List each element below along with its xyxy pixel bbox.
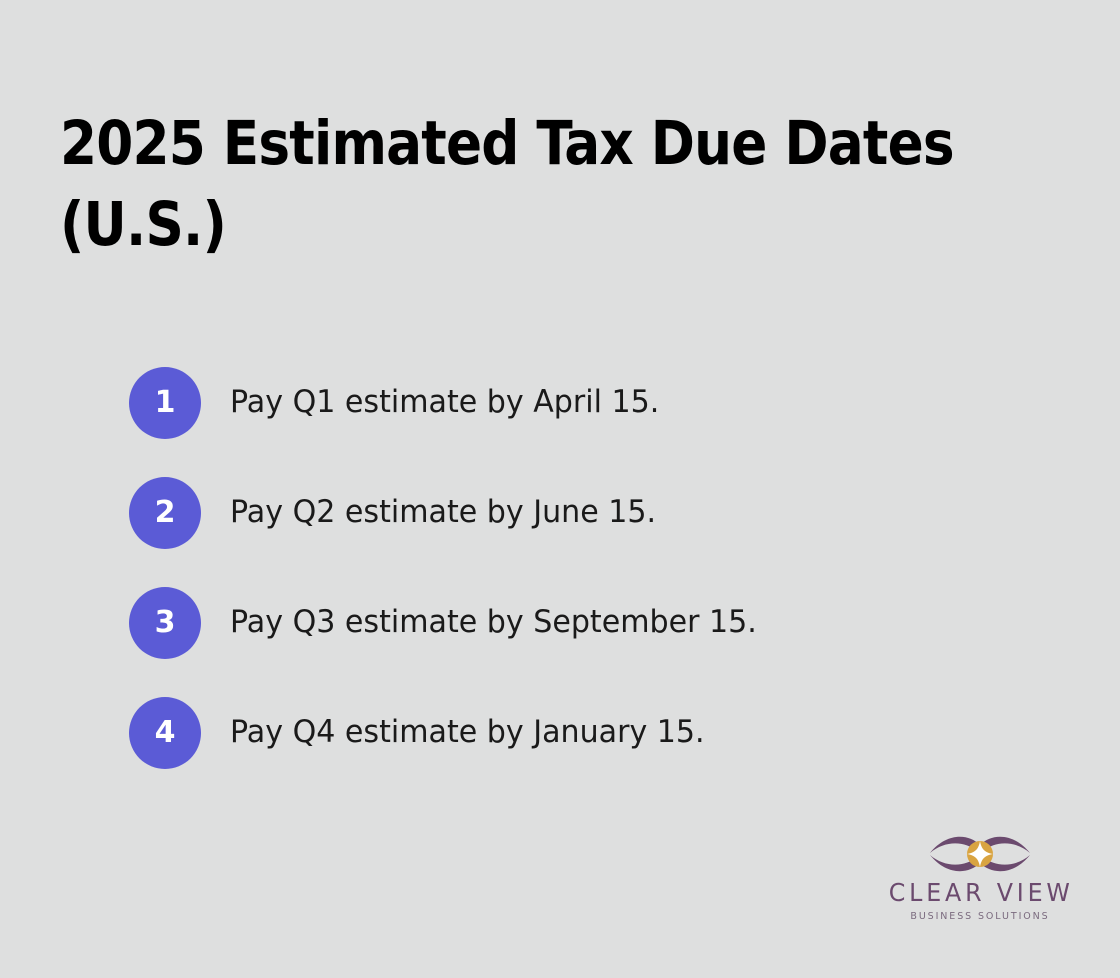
page-title: 2025 Estimated Tax Due Dates (U.S.) <box>60 104 1050 265</box>
title-line-1: 2025 Estimated Tax Due Dates <box>60 104 1020 185</box>
list-number-badge: 3 <box>129 587 201 659</box>
list-item: 4 Pay Q4 estimate by January 15. <box>129 697 1029 769</box>
logo-tagline: BUSINESS SOLUTIONS <box>889 912 1071 922</box>
list-item: 2 Pay Q2 estimate by June 15. <box>129 477 1029 549</box>
list-item: 1 Pay Q1 estimate by April 15. <box>129 367 1029 439</box>
brand-logo: CLEAR VIEW BUSINESS SOLUTIONS <box>884 831 1076 927</box>
logo-wordmark: CLEAR VIEW <box>889 880 1071 905</box>
clear-view-eye-icon <box>884 831 1076 877</box>
title-line-2: (U.S.) <box>60 185 1020 266</box>
list-item-label: Pay Q2 estimate by June 15. <box>230 494 656 531</box>
slide-canvas: 2025 Estimated Tax Due Dates (U.S.) 1 Pa… <box>0 0 1120 978</box>
list-number-badge: 4 <box>129 697 201 769</box>
list-number-badge: 2 <box>129 477 201 549</box>
list-item: 3 Pay Q3 estimate by September 15. <box>129 587 1029 659</box>
list-number-badge: 1 <box>129 367 201 439</box>
numbered-list: 1 Pay Q1 estimate by April 15. 2 Pay Q2 … <box>129 367 1029 769</box>
list-item-label: Pay Q4 estimate by January 15. <box>230 714 705 751</box>
list-item-label: Pay Q1 estimate by April 15. <box>230 384 659 421</box>
list-item-label: Pay Q3 estimate by September 15. <box>230 604 757 641</box>
